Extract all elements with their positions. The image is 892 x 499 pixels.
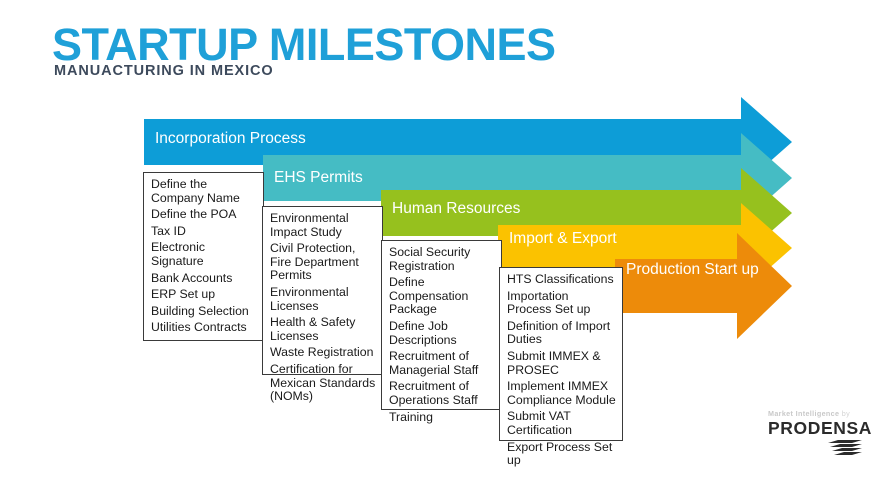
prodensa-logo: Market Intelligence by PRODENSA xyxy=(768,410,863,455)
list-item: Importation Process Set up xyxy=(507,290,616,317)
detail-box-human-resources: Social Security Registration Define Comp… xyxy=(381,240,502,410)
list-item: Environmental Licenses xyxy=(270,286,376,313)
list-item: Building Selection xyxy=(151,305,257,319)
logo-tagline-strong: Market Intelligence xyxy=(768,409,839,418)
list-item: Social Security Registration xyxy=(389,246,495,273)
list-item: Bank Accounts xyxy=(151,272,257,286)
list-item: Electronic Signature xyxy=(151,241,257,268)
list-item: Submit VAT Certification xyxy=(507,410,616,437)
logo-tagline: Market Intelligence by xyxy=(768,410,863,417)
list-item: Training xyxy=(389,411,495,425)
arrow-production-start-up[interactable] xyxy=(615,233,792,339)
list-item: Implement IMMEX Compliance Module xyxy=(507,380,616,407)
detail-box-ehs-permits: Environmental Impact Study Civil Protect… xyxy=(262,206,383,375)
list-item: Definition of Import Duties xyxy=(507,320,616,347)
list-item: Define the POA xyxy=(151,208,257,222)
list-item: ERP Set up xyxy=(151,288,257,302)
detail-list-incorporation: Define the Company Name Define the POA T… xyxy=(151,178,257,335)
logo-wordmark: PRODENSA xyxy=(768,420,863,438)
diagonal-stripes-icon xyxy=(828,440,862,455)
list-item: Waste Registration xyxy=(270,346,376,360)
detail-list-human-resources: Social Security Registration Define Comp… xyxy=(389,246,495,424)
list-item: Submit IMMEX & PROSEC xyxy=(507,350,616,377)
detail-list-import-export: HTS Classifications Importation Process … xyxy=(507,273,616,468)
detail-box-import-export: HTS Classifications Importation Process … xyxy=(499,267,623,441)
list-item: Define Job Descriptions xyxy=(389,320,495,347)
list-item: HTS Classifications xyxy=(507,273,616,287)
list-item: Certification for Mexican Standards (NOM… xyxy=(270,363,376,404)
logo-tagline-light: by xyxy=(842,409,850,418)
list-item: Civil Protection, Fire Department Permit… xyxy=(270,242,376,283)
list-item: Export Process Set up xyxy=(507,441,616,468)
list-item: Define Compensation Package xyxy=(389,276,495,317)
page-subtitle: MANUACTURING IN MEXICO xyxy=(54,64,274,79)
detail-list-ehs-permits: Environmental Impact Study Civil Protect… xyxy=(270,212,376,404)
list-item: Recruitment of Operations Staff xyxy=(389,380,495,407)
list-item: Environmental Impact Study xyxy=(270,212,376,239)
page-title: STARTUP MILESTONES xyxy=(52,22,556,67)
slide-canvas: STARTUP MILESTONES MANUACTURING IN MEXIC… xyxy=(0,0,892,499)
list-item: Define the Company Name xyxy=(151,178,257,205)
list-item: Utilities Contracts xyxy=(151,321,257,335)
detail-box-incorporation: Define the Company Name Define the POA T… xyxy=(143,172,264,341)
list-item: Recruitment of Managerial Staff xyxy=(389,350,495,377)
list-item: Health & Safety Licenses xyxy=(270,316,376,343)
list-item: Tax ID xyxy=(151,225,257,239)
arrow-production-start-up-shape xyxy=(615,233,792,339)
